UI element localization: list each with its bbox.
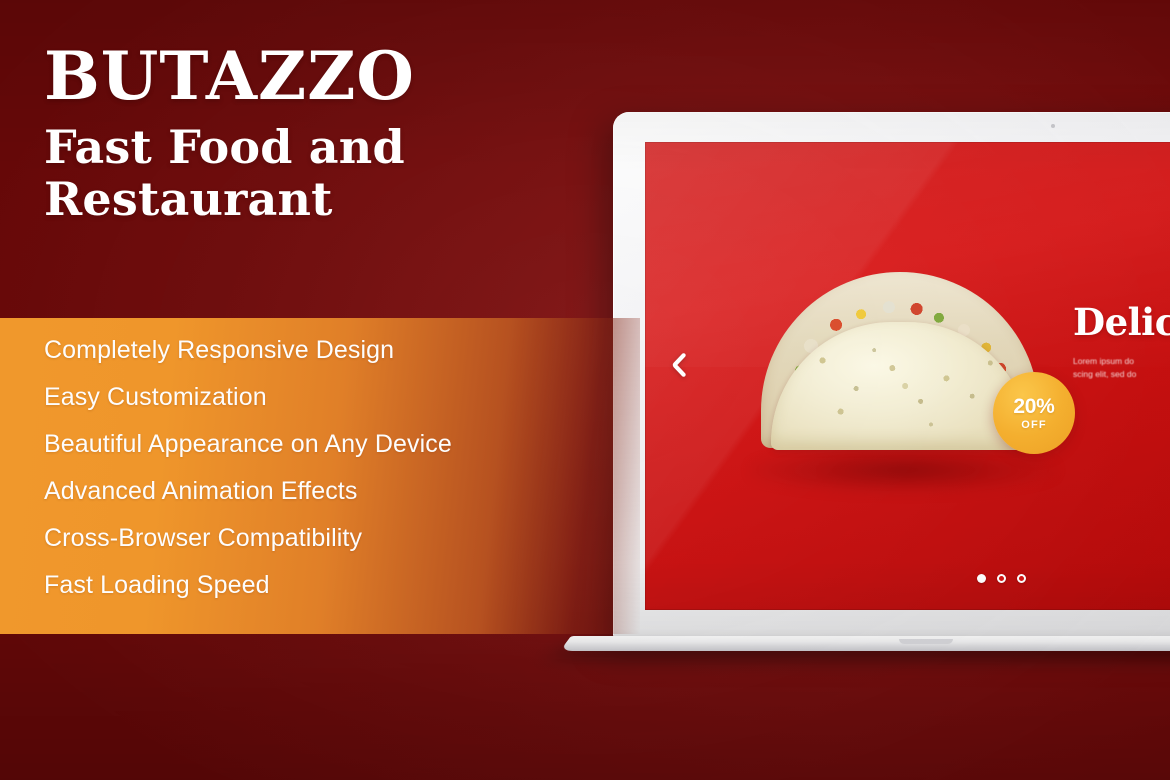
slider-dot-3[interactable]	[1017, 574, 1026, 583]
brand-heading-block: BUTAZZO Fast Food and Restaurant	[44, 44, 584, 226]
product-shadow	[749, 446, 1057, 494]
feature-item: Beautiful Appearance on Any Device	[44, 432, 640, 457]
feature-item: Completely Responsive Design	[44, 338, 640, 363]
slide-headline-block: Delici Lorem ipsum do scing elit, sed do	[1073, 304, 1170, 381]
brand-name: BUTAZZO	[44, 44, 584, 109]
discount-percent: 20%	[1013, 396, 1054, 417]
brand-tagline: Fast Food and Restaurant	[44, 121, 584, 226]
laptop-hinge-notch	[899, 639, 953, 644]
chevron-left-icon	[671, 353, 686, 377]
slider-pagination	[977, 574, 1026, 583]
slide-body-line-1: Lorem ipsum do	[1073, 355, 1170, 368]
slider-dot-1[interactable]	[977, 574, 986, 583]
laptop-camera-icon	[1051, 124, 1055, 128]
feature-item: Easy Customization	[44, 385, 640, 410]
laptop-base	[560, 636, 1170, 651]
discount-badge[interactable]: 20% OFF	[993, 372, 1075, 454]
promo-poster: 20% OFF Delici Lorem ipsum do scing elit…	[0, 0, 1170, 780]
slide-body-line-2: scing elit, sed do	[1073, 368, 1170, 381]
discount-label: OFF	[1021, 420, 1047, 431]
brand-tagline-line-1: Fast Food and	[44, 121, 584, 173]
slider-dot-2[interactable]	[997, 574, 1006, 583]
feature-item: Advanced Animation Effects	[44, 479, 640, 504]
brand-tagline-line-2: Restaurant	[44, 173, 584, 225]
laptop-mockup: 20% OFF Delici Lorem ipsum do scing elit…	[613, 112, 1170, 640]
feature-list-panel: Completely Responsive Design Easy Custom…	[0, 318, 640, 634]
feature-item: Fast Loading Speed	[44, 573, 640, 598]
product-image-taco	[755, 270, 1045, 470]
feature-item: Cross-Browser Compatibility	[44, 526, 640, 551]
slide-body: Lorem ipsum do scing elit, sed do	[1073, 355, 1170, 381]
slider-prev-button[interactable]	[663, 348, 693, 382]
slide-title: Delici	[1073, 304, 1170, 341]
laptop-screen: 20% OFF Delici Lorem ipsum do scing elit…	[645, 142, 1170, 610]
